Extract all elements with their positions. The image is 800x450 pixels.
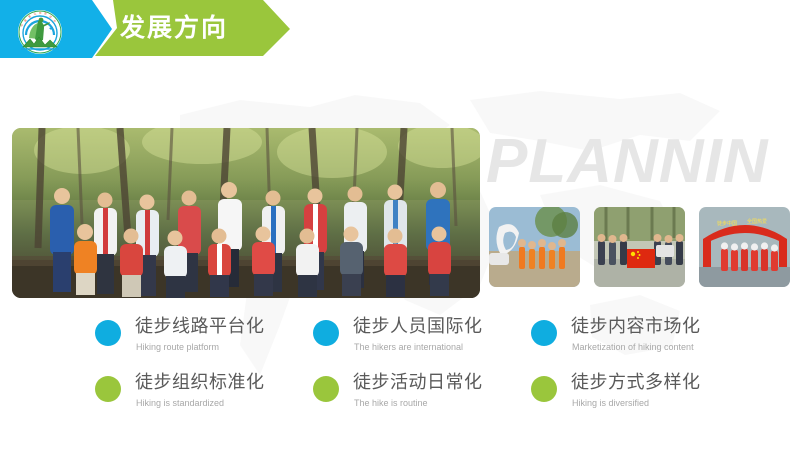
bullet-dot-icon	[95, 320, 121, 346]
bullet-dot-icon	[313, 376, 339, 402]
bullet-subtitle: Hiking is diversified	[572, 397, 649, 409]
thumbnail-photo-3: 徒步中国 全国热爱	[699, 207, 790, 287]
slide-header: 中 国 登 山 协 会 徒 步 发展方向	[0, 0, 330, 60]
svg-text:全国热爱: 全国热爱	[747, 218, 767, 225]
bullet-item-3[interactable]: 徒步内容市场化 Marketization of hiking content	[531, 312, 781, 362]
bullet-dot-icon	[531, 376, 557, 402]
bullet-title: 徒步人员国际化	[353, 313, 483, 339]
bullet-item-2[interactable]: 徒步人员国际化 The hikers are international	[313, 312, 563, 362]
bullet-item-5[interactable]: 徒步活动日常化 The hike is routine	[313, 368, 563, 418]
bullet-dot-icon	[313, 320, 339, 346]
thumbnail-photo-1	[489, 207, 580, 287]
main-group-photo	[12, 128, 480, 298]
bullet-title: 徒步线路平台化	[135, 313, 265, 339]
page-title: 发展方向	[120, 11, 270, 45]
bullet-item-4[interactable]: 徒步组织标准化 Hiking is standardized	[95, 368, 345, 418]
thumbnail-photo-2	[594, 207, 685, 287]
bullet-item-1[interactable]: 徒步线路平台化 Hiking route platform	[95, 312, 345, 362]
bullet-subtitle: The hike is routine	[354, 397, 428, 409]
bullet-title: 徒步方式多样化	[571, 369, 701, 395]
bullet-subtitle: Hiking is standardized	[136, 397, 224, 409]
bullet-list: 徒步线路平台化 Hiking route platform 徒步人员国际化 Th…	[0, 312, 800, 422]
bullet-item-6[interactable]: 徒步方式多样化 Hiking is diversified	[531, 368, 781, 418]
svg-text:徒步中国: 徒步中国	[717, 220, 737, 227]
bullet-subtitle: Hiking route platform	[136, 341, 219, 353]
bullet-dot-icon	[95, 376, 121, 402]
bullet-subtitle: Marketization of hiking content	[572, 341, 694, 353]
bullet-title: 徒步活动日常化	[353, 369, 483, 395]
presentation-slide: 中 国 登 山 协 会 徒 步 发展方向 PLANNIN	[0, 0, 800, 450]
bullet-subtitle: The hikers are international	[354, 341, 463, 353]
bullet-title: 徒步组织标准化	[135, 369, 265, 395]
hiking-association-emblem-icon: 中 国 登 山 协 会 徒 步	[13, 9, 67, 55]
bullet-title: 徒步内容市场化	[571, 313, 701, 339]
bullet-dot-icon	[531, 320, 557, 346]
plannin-watermark-text: PLANNIN	[486, 126, 769, 198]
